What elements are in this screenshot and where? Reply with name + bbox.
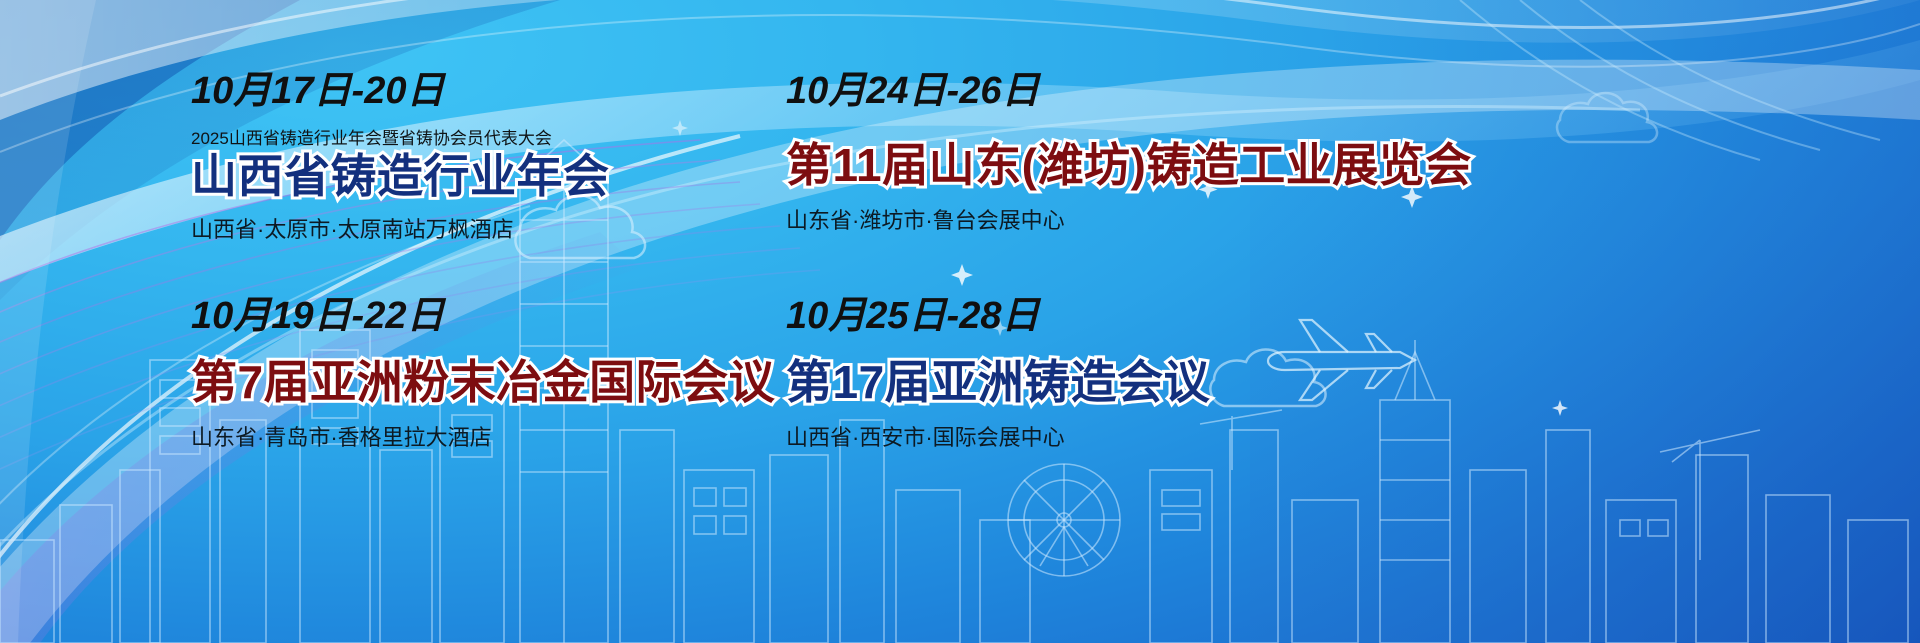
event-date: 10月17日-20日 [191, 72, 610, 110]
event-place: 山东省·潍坊市·鲁台会展中心 [786, 210, 1472, 232]
event-title: 第7届亚洲粉末冶金国际会议 [191, 357, 775, 409]
event-title: 第11届山东(潍坊)铸造工业展览会 [786, 140, 1472, 192]
event-title: 第17届亚洲铸造会议 [786, 357, 1210, 409]
event-place: 山西省·西安市·国际会展中心 [786, 427, 1210, 449]
event-card-3[interactable]: 10月24日-26日 第11届山东(潍坊)铸造工业展览会 山东省·潍坊市·鲁台会… [786, 72, 1472, 232]
event-date: 10月25日-28日 [786, 297, 1210, 335]
event-card-2[interactable]: 10月19日-22日 第7届亚洲粉末冶金国际会议 山东省·青岛市·香格里拉大酒店 [191, 297, 775, 449]
event-title: 山西省铸造行业年会 [191, 151, 610, 203]
event-place: 山东省·青岛市·香格里拉大酒店 [191, 427, 775, 449]
event-subtitle: 2025山西省铸造行业年会暨省铸协会员代表大会 [191, 130, 610, 147]
event-card-4[interactable]: 10月25日-28日 第17届亚洲铸造会议 山西省·西安市·国际会展中心 [786, 297, 1210, 449]
event-place: 山西省·太原市·太原南站万枫酒店 [191, 219, 610, 241]
airplane-icon [1268, 320, 1415, 400]
ferris-wheel-icon [1008, 464, 1120, 576]
event-date: 10月24日-26日 [786, 72, 1472, 110]
event-date: 10月19日-22日 [191, 297, 775, 335]
conference-banner: 10月17日-20日 2025山西省铸造行业年会暨省铸协会员代表大会 山西省铸造… [0, 0, 1920, 643]
event-card-1[interactable]: 10月17日-20日 2025山西省铸造行业年会暨省铸协会员代表大会 山西省铸造… [191, 72, 610, 241]
